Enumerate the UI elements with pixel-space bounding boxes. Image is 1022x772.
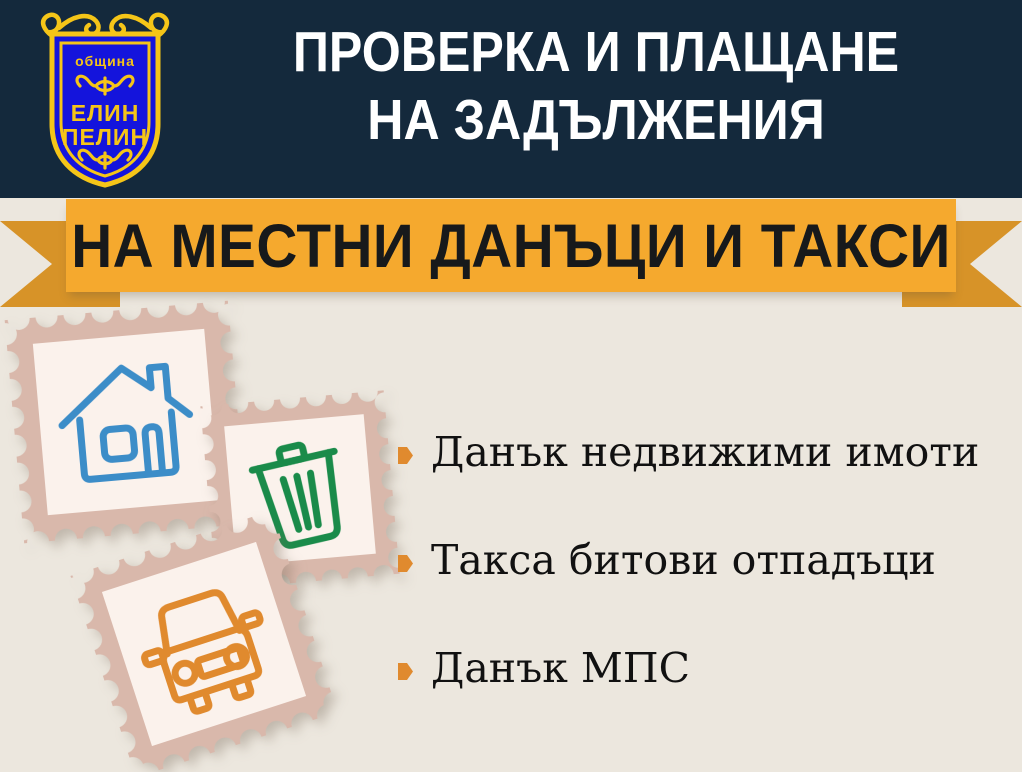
svg-text:община: община — [75, 53, 135, 69]
page-title: ПРОВЕРКА И ПЛАЩАНЕ НА ЗАДЪЛЖЕНИЯ — [235, 18, 957, 154]
list-item-label: Данък недвижими имоти — [431, 425, 979, 479]
list-item-label: Такса битови отпадъци — [431, 533, 936, 587]
header-bar: община ЕЛИН ПЕЛИН — [0, 0, 1022, 198]
list-item[interactable]: Такса битови отпадъци — [398, 533, 1008, 641]
svg-text:ЕЛИН: ЕЛИН — [71, 100, 140, 126]
arrow-bullet-icon — [398, 447, 413, 464]
services-list: Данък недвижими имоти Такса битови отпад… — [398, 425, 1008, 749]
poster-canvas: община ЕЛИН ПЕЛИН — [0, 0, 1022, 772]
list-item[interactable]: Данък недвижими имоти — [398, 425, 1008, 533]
arrow-bullet-icon — [398, 555, 413, 572]
coat-of-arms-icon: община ЕЛИН ПЕЛИН — [34, 8, 176, 190]
municipality-logo: община ЕЛИН ПЕЛИН — [34, 8, 176, 190]
list-item-label: Данък МПС — [431, 641, 690, 695]
ribbon-banner: НА МЕСТНИ ДАНЪЦИ И ТАКСИ — [0, 199, 1022, 309]
ribbon-band: НА МЕСТНИ ДАНЪЦИ И ТАКСИ — [66, 199, 956, 292]
list-item[interactable]: Данък МПС — [398, 641, 1008, 749]
ribbon-label: НА МЕСТНИ ДАНЪЦИ И ТАКСИ — [97, 199, 925, 292]
svg-text:ПЕЛИН: ПЕЛИН — [62, 124, 148, 150]
arrow-bullet-icon — [398, 663, 413, 680]
